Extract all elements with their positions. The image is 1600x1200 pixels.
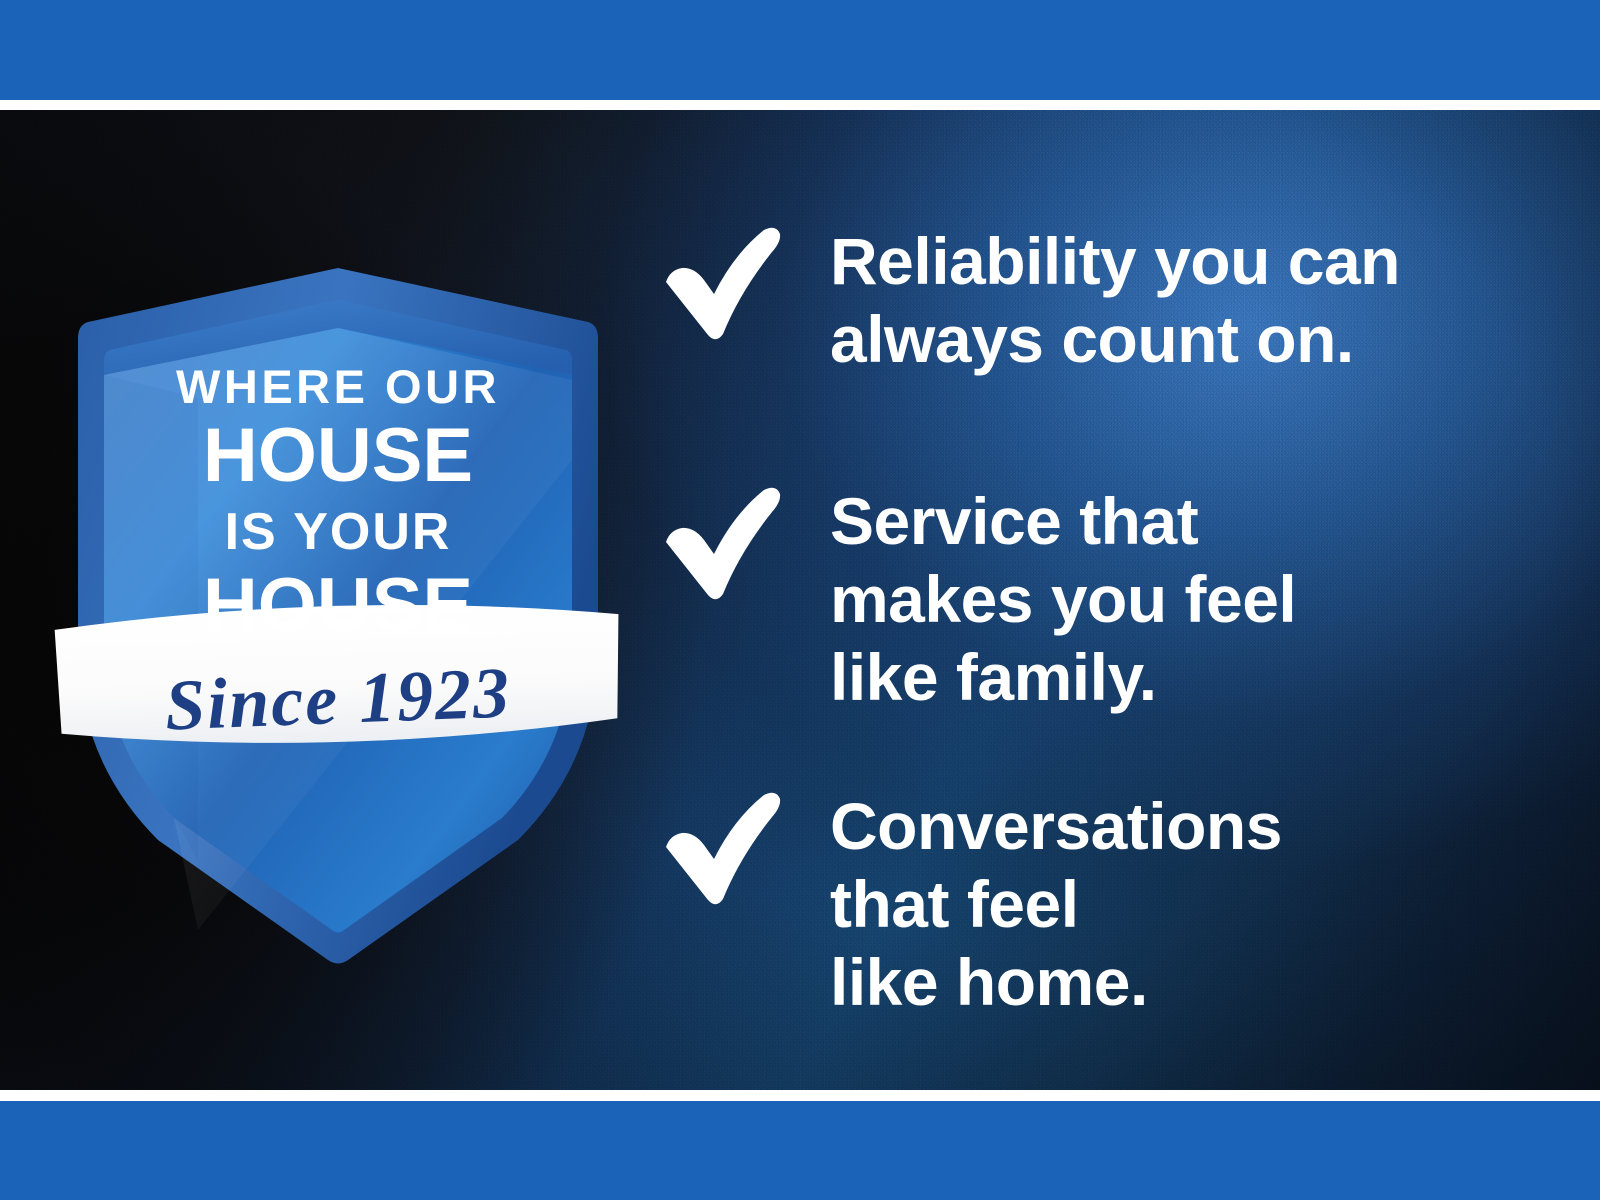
list-item: Conversations that feel like home.	[660, 785, 1282, 1021]
list-item-label: Conversations that feel like home.	[830, 787, 1282, 1021]
brand-badge: WHERE OUR HOUSE IS YOUR HOUSE Since 1923	[48, 160, 628, 970]
list-item: Service that makes you feel like family.	[660, 480, 1296, 716]
check-icon	[660, 482, 785, 602]
shield-graphic	[48, 160, 628, 970]
check-icon	[660, 787, 785, 907]
list-item-label: Service that makes you feel like family.	[830, 482, 1296, 716]
list-item-label: Reliability you can always count on.	[830, 222, 1400, 378]
benefits-list: Reliability you can always count on. Ser…	[660, 110, 1540, 1090]
promo-graphic: WHERE OUR HOUSE IS YOUR HOUSE Since 1923…	[0, 0, 1600, 1200]
check-icon	[660, 222, 785, 342]
ribbon-band	[54, 598, 622, 750]
list-item: Reliability you can always count on.	[660, 220, 1400, 378]
bottom-accent-bar	[0, 1101, 1600, 1200]
top-accent-bar	[0, 0, 1600, 100]
